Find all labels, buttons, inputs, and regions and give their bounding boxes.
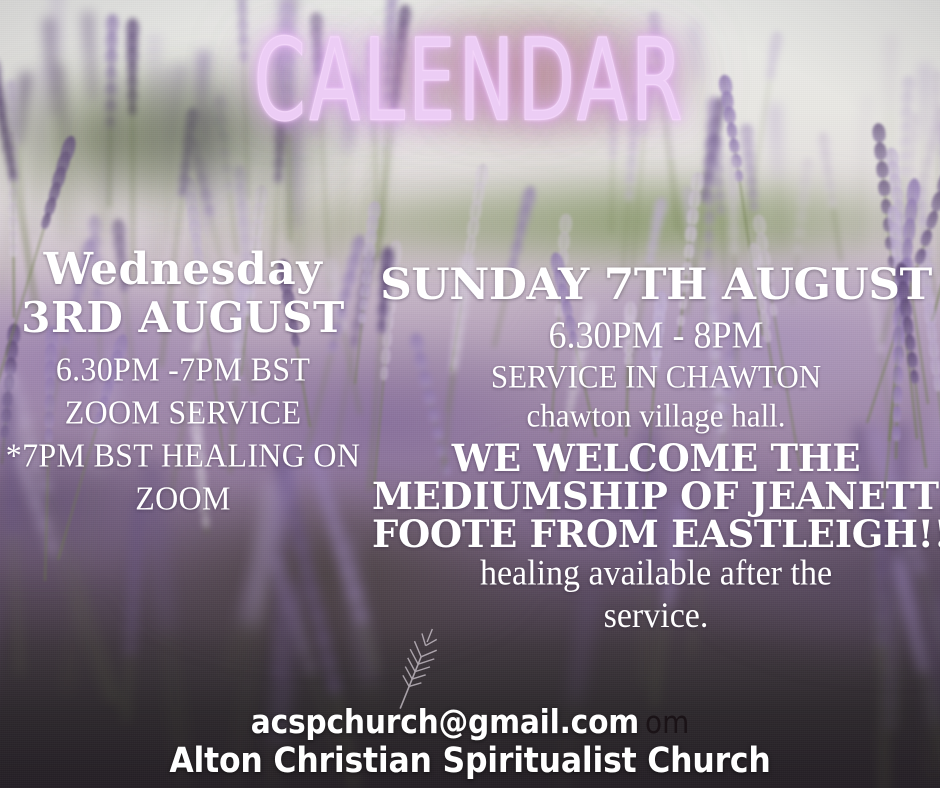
event-wednesday-line-2: ZOOM SERVICE [0, 390, 372, 435]
event-sunday-welcome-line-2: MEDIUMSHIP OF JEANETTE [372, 477, 940, 515]
calendar-poster: CALENDAR Wednesday 3RD AUGUST 6.30PM -7P… [0, 0, 940, 788]
page-title: CALENDAR [66, 24, 874, 137]
event-sunday-place: SERVICE IN CHAWTON [372, 357, 940, 397]
event-wednesday: Wednesday 3RD AUGUST 6.30PM -7PM BST ZOO… [0, 248, 372, 520]
event-wednesday-day: Wednesday [0, 248, 372, 293]
event-sunday-venue: chawton village hall. [372, 395, 940, 436]
event-wednesday-line-3: *7PM BST HEALING ON [0, 433, 372, 478]
event-sunday-welcome-line-3: FOOTE FROM EASTLEIGH!! [372, 515, 940, 553]
email-artifact-text: om [645, 705, 689, 741]
event-wednesday-date: 3RD AUGUST [0, 295, 372, 340]
event-sunday-welcome-line-1: WE WELCOME THE [372, 439, 940, 477]
event-sunday-heading: SUNDAY 7TH AUGUST [366, 264, 940, 308]
footer: acspchurch@gmail.comom Alton Christian S… [0, 703, 940, 782]
event-sunday: SUNDAY 7TH AUGUST 6.30PM - 8PM SERVICE I… [372, 264, 940, 635]
event-sunday-healing-line-1: healing available after the [372, 553, 940, 596]
event-sunday-time: 6.30PM - 8PM [372, 313, 940, 359]
event-wednesday-line-1: 6.30PM -7PM BST [0, 347, 372, 392]
event-wednesday-line-4: ZOOM [0, 476, 372, 521]
contact-email[interactable]: acspchurch@gmail.com [251, 703, 639, 741]
church-name: Alton Christian Spiritualist Church [0, 742, 940, 782]
event-sunday-healing-line-2: service. [372, 595, 940, 638]
event-sunday-healing: healing available after the service. [372, 553, 940, 638]
event-sunday-welcome: WE WELCOME THE MEDIUMSHIP OF JEANETTE FO… [372, 439, 940, 553]
